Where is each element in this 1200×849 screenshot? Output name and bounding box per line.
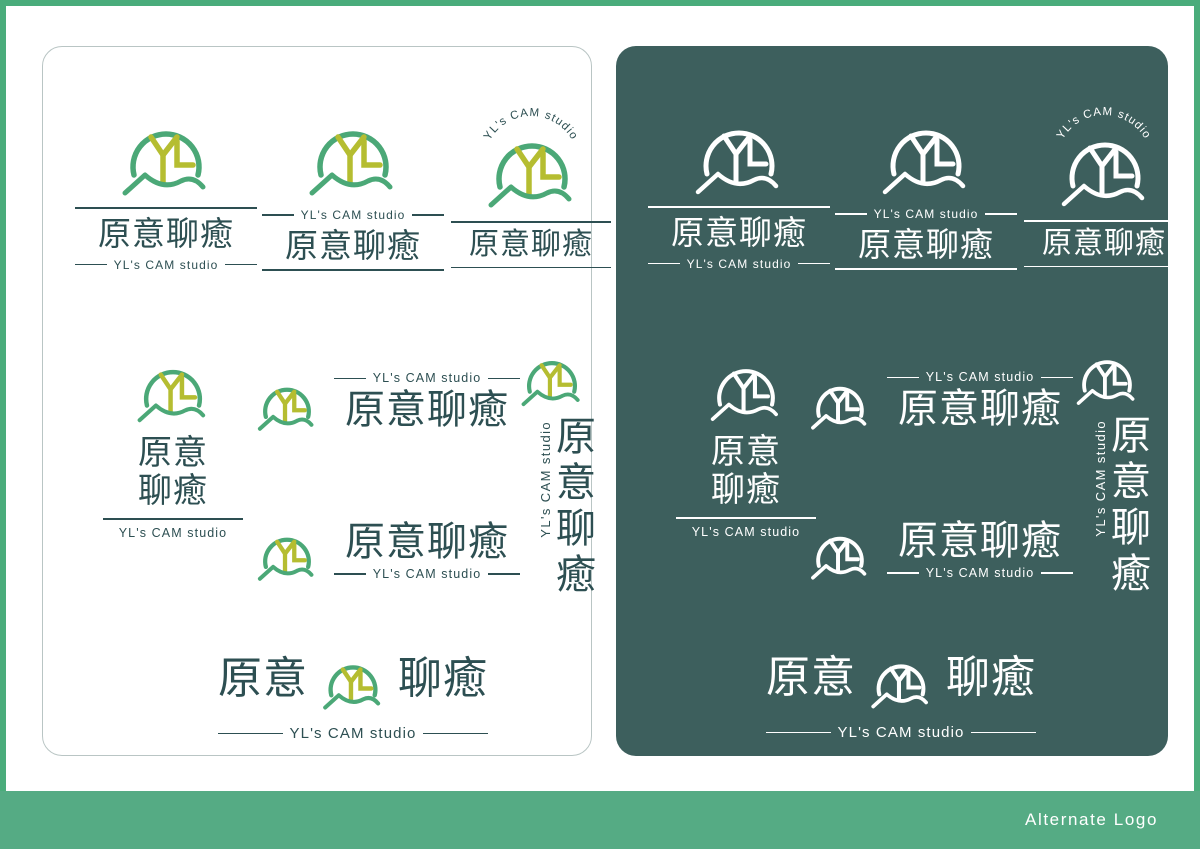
lockup-stacked-cn-grid-light[interactable]: 原 意 聊 癒 YL's CAM studio — [98, 342, 248, 539]
brand-name-en: YL's CAM studio — [838, 725, 965, 740]
logo-mark-icon — [1066, 336, 1148, 412]
divider-rule — [225, 264, 257, 266]
svg-text:YL's CAM studio: YL's CAM studio — [1055, 106, 1153, 142]
brand-name-cn: 原意聊癒 — [98, 217, 234, 250]
logo-mark-icon — [698, 341, 794, 429]
brand-name-cn: 原意聊癒 — [1042, 229, 1166, 259]
brand-name-en: YL's CAM studio — [687, 258, 792, 270]
brand-name-cn: 原意聊癒 — [285, 229, 421, 262]
brand-name-en: YL's CAM studio — [874, 208, 979, 220]
divider-rule — [798, 263, 830, 265]
logo-mark-icon — [125, 342, 221, 430]
divider-rule — [103, 518, 243, 520]
logo-mark-icon — [248, 515, 326, 587]
brand-name-cn-char: 意 — [556, 463, 597, 503]
brand-name-cn: 原意聊癒 — [345, 390, 509, 430]
divider-rule — [887, 572, 919, 574]
divider-rule — [985, 213, 1017, 215]
brand-name-en: YL's CAM studio — [119, 527, 228, 540]
lockup-vertical-dark[interactable]: YL's CAM studio 原 意 聊 癒 — [1066, 336, 1152, 594]
logo-mark-icon — [313, 642, 393, 716]
lockup-split-centered-mark-light[interactable]: 原意 聊癒 YL's CAM studio — [218, 642, 488, 741]
logo-mark-icon — [867, 96, 985, 204]
footer-bar: Alternate Logo — [0, 791, 1200, 849]
lockup-vertical-light[interactable]: YL's CAM studio 原 意 聊 癒 — [511, 337, 597, 595]
brand-name-en: YL's CAM studio — [539, 421, 552, 538]
divider-rule — [218, 733, 283, 735]
divider-rule — [334, 378, 366, 380]
divider-rule — [451, 267, 611, 269]
divider-rule — [262, 214, 294, 216]
brand-name-cn-char: 癒 — [746, 473, 781, 507]
brand-name-en: YL's CAM studio — [926, 567, 1035, 580]
logo-mark-icon — [801, 514, 879, 586]
brand-name-en: YL's CAM studio — [114, 259, 219, 271]
lockup-stacked-en-arc-light[interactable]: YL's CAM studio 原意聊癒 — [441, 89, 621, 268]
divider-rule — [648, 263, 680, 265]
divider-rule — [423, 733, 488, 735]
brand-name-cn-left: 原意 — [766, 656, 856, 700]
brand-name-cn-char: 聊 — [1111, 508, 1152, 548]
brand-name-cn: 原意聊癒 — [898, 521, 1062, 561]
divider-rule — [648, 206, 830, 208]
divider-rule — [1024, 220, 1184, 222]
lockup-split-centered-mark-dark[interactable]: 原意 聊癒 YL's CAM studio — [766, 641, 1036, 740]
lockup-stacked-en-below-dark[interactable]: 原意聊癒 YL's CAM studio — [644, 96, 834, 270]
light-logo-panel: 原意聊癒 YL's CAM studio — [42, 46, 592, 756]
logo-mark-icon — [248, 365, 326, 437]
brand-name-en: YL's CAM studio — [373, 568, 482, 581]
brand-name-cn: 原意聊癒 — [858, 228, 994, 261]
brand-name-cn-char: 癒 — [1111, 554, 1152, 594]
brand-name-cn: 原意聊癒 — [898, 389, 1062, 429]
divider-rule — [412, 214, 444, 216]
brand-name-en: YL's CAM studio — [692, 526, 801, 539]
brand-name-en: YL's CAM studio — [1094, 420, 1107, 537]
lockup-stacked-en-above-light[interactable]: YL's CAM studio 原意聊癒 — [258, 97, 448, 271]
brand-name-cn-char: 意 — [1111, 462, 1152, 502]
logo-mark-icon: YL's CAM studio — [461, 89, 601, 221]
divider-rule — [766, 732, 831, 734]
brand-name-en-arc: YL's CAM studio — [482, 107, 580, 143]
brand-name-cn: 原意聊癒 — [469, 230, 593, 260]
brand-name-cn-char: 聊 — [711, 473, 746, 507]
lockup-horizontal-en-below-dark[interactable]: 原意聊癒 YL's CAM studio — [801, 514, 1073, 586]
lockup-horizontal-en-above-dark[interactable]: YL's CAM studio 原意聊癒 — [801, 364, 1073, 436]
brand-name-cn-char: 癒 — [173, 474, 208, 508]
lockup-stacked-cn-grid-dark[interactable]: 原 意 聊 癒 YL's CAM studio — [671, 341, 821, 538]
brand-name-cn-char: 原 — [711, 435, 746, 469]
brand-name-cn-right: 聊癒 — [398, 657, 488, 701]
divider-rule — [887, 377, 919, 379]
lockup-stacked-en-below-light[interactable]: 原意聊癒 YL's CAM studio — [71, 97, 261, 271]
brand-name-cn-char: 原 — [1111, 416, 1152, 456]
brand-name-en: YL's CAM studio — [290, 726, 417, 741]
footer-label: Alternate Logo — [1025, 810, 1158, 830]
brand-name-cn: 原意聊癒 — [671, 216, 807, 249]
brand-name-cn: 原意聊癒 — [345, 522, 509, 562]
brand-name-cn-char: 原 — [556, 417, 597, 457]
brand-name-en: YL's CAM studio — [373, 372, 482, 385]
brand-name-en-arc: YL's CAM studio — [1055, 106, 1153, 142]
brand-name-cn-char: 意 — [746, 435, 781, 469]
divider-rule — [75, 207, 257, 209]
logo-mark-icon: YL's CAM studio — [1034, 88, 1174, 220]
dark-logo-panel: 原意聊癒 YL's CAM studio — [616, 46, 1168, 756]
svg-text:YL's CAM studio: YL's CAM studio — [482, 107, 580, 143]
logo-mark-icon — [861, 641, 941, 715]
presentation-board: 原意聊癒 YL's CAM studio — [0, 0, 1200, 849]
divider-rule — [451, 221, 611, 223]
lockup-stacked-en-above-dark[interactable]: YL's CAM studio 原意聊癒 — [831, 96, 1021, 270]
lockup-horizontal-en-below-light[interactable]: 原意聊癒 YL's CAM studio — [248, 515, 520, 587]
brand-name-cn-char: 意 — [173, 436, 208, 470]
divider-rule — [835, 213, 867, 215]
brand-name-cn-right: 聊癒 — [946, 656, 1036, 700]
divider-rule — [835, 268, 1017, 270]
brand-name-en: YL's CAM studio — [301, 209, 406, 221]
divider-rule — [262, 269, 444, 271]
logo-mark-icon — [680, 96, 798, 204]
logo-mark-icon — [511, 337, 593, 413]
brand-name-cn-char: 聊 — [138, 474, 173, 508]
divider-rule — [334, 573, 366, 575]
lockup-horizontal-en-above-light[interactable]: YL's CAM studio 原意聊癒 — [248, 365, 520, 437]
divider-rule — [971, 732, 1036, 734]
logo-mark-icon — [801, 364, 879, 436]
lockup-stacked-en-arc-dark[interactable]: YL's CAM studio 原意聊癒 — [1014, 88, 1194, 267]
logo-mark-icon — [107, 97, 225, 205]
divider-rule — [1024, 266, 1184, 268]
brand-name-cn-char: 癒 — [556, 555, 597, 595]
divider-rule — [676, 517, 816, 519]
brand-name-en: YL's CAM studio — [926, 371, 1035, 384]
brand-name-cn-char: 聊 — [556, 509, 597, 549]
logo-mark-icon — [294, 97, 412, 205]
brand-name-cn-left: 原意 — [218, 657, 308, 701]
divider-rule — [75, 264, 107, 266]
brand-name-cn-char: 原 — [138, 436, 173, 470]
